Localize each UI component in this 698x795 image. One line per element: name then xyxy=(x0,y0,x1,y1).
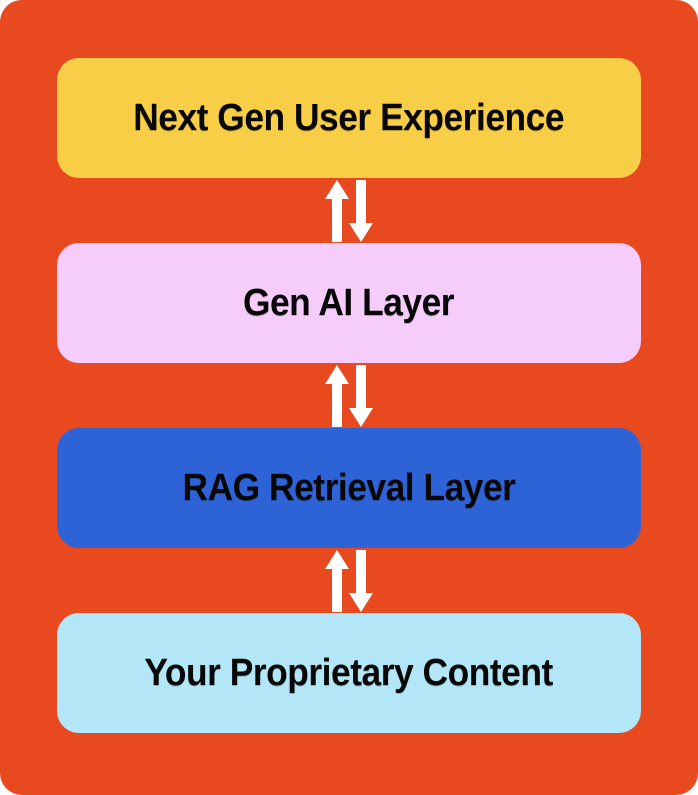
layer-box-your-proprietary-content[interactable]: Your Proprietary Content xyxy=(57,613,641,733)
connector-rag-content xyxy=(317,548,381,613)
layer-box-gen-ai-layer[interactable]: Gen AI Layer xyxy=(57,243,641,363)
arrow-down-icon xyxy=(349,550,373,612)
layer-box-next-gen-user-experience[interactable]: Next Gen User Experience xyxy=(57,58,641,178)
connector-genai-rag xyxy=(317,363,381,428)
layer-label-gen-ai-layer: Gen AI Layer xyxy=(243,284,454,322)
bidirectional-arrow-icon xyxy=(317,180,381,242)
arrow-down-icon xyxy=(349,365,373,427)
arrow-up-icon xyxy=(325,550,349,612)
layer-label-next-gen-user-experience: Next Gen User Experience xyxy=(134,99,565,137)
arrow-up-icon xyxy=(325,180,349,242)
diagram-frame: Next Gen User Experience Gen AI Layer xyxy=(0,0,698,795)
bidirectional-arrow-icon xyxy=(317,365,381,427)
connector-ux-genai xyxy=(317,178,381,243)
layer-box-rag-retrieval-layer[interactable]: RAG Retrieval Layer xyxy=(57,428,641,548)
bidirectional-arrow-icon xyxy=(317,550,381,612)
arrow-up-icon xyxy=(325,365,349,427)
layer-stack: Next Gen User Experience Gen AI Layer xyxy=(0,0,698,795)
layer-label-your-proprietary-content: Your Proprietary Content xyxy=(145,654,553,692)
layer-label-rag-retrieval-layer: RAG Retrieval Layer xyxy=(183,469,516,507)
arrow-down-icon xyxy=(349,180,373,242)
